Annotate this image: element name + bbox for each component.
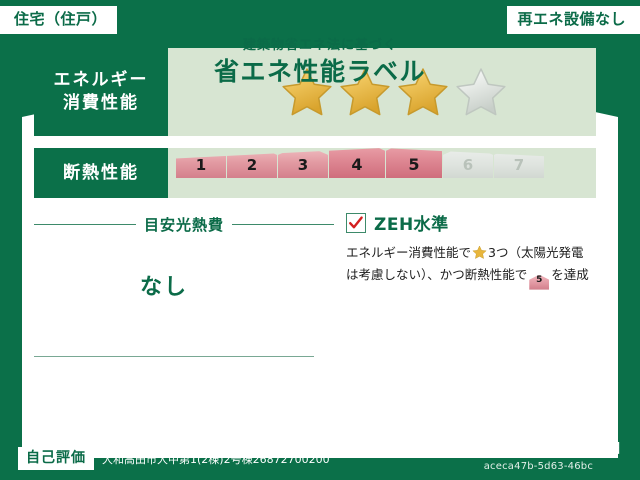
insulation-level-badge-inline: 5 <box>529 275 549 290</box>
zeh-desc-stars: 3つ（太陽光発電 <box>488 245 583 260</box>
zeh-desc-part1: エネルギー消費性能で <box>346 245 471 260</box>
insulation-level-4: 4 <box>329 138 385 178</box>
zeh-section: ZEH水準 エネルギー消費性能で3つ（太陽光発電は考慮しない）、かつ断熱性能で5… <box>334 208 596 438</box>
insulation-level-6: 6 <box>443 144 493 178</box>
utility-cost-heading-text: 目安光熱費 <box>144 214 224 235</box>
self-evaluation-badge: 自己評価 <box>18 447 94 470</box>
zeh-desc-part3: を達成 <box>551 267 589 282</box>
zeh-checkbox <box>346 213 366 233</box>
utility-cost-section: 目安光熱費 なし <box>34 208 334 438</box>
footer-right: 評価日 2025年10月15日 aceca47b-5d63-46bc <box>455 438 622 472</box>
evaluation-date: 評価日 2025年10月15日 <box>455 438 622 458</box>
zeh-desc-part2: は考慮しない）、かつ断熱性能で <box>346 267 527 282</box>
insulation-level-3: 3 <box>278 144 328 178</box>
zeh-description: エネルギー消費性能で3つ（太陽光発電は考慮しない）、かつ断熱性能で5を達成 <box>346 242 596 290</box>
footer-left: 自己評価 大和高田市大中第1(2棟)2号棟26872700200 <box>18 447 330 470</box>
check-icon <box>348 215 364 231</box>
zeh-title: ZEH水準 <box>374 210 449 235</box>
heading-rule-right <box>232 224 334 225</box>
insulation-label-text: 断熱性能 <box>63 162 139 185</box>
insulation-level-1: 1 <box>176 144 226 178</box>
page-title: 省エネ性能ラベル <box>0 56 640 87</box>
insulation-level-7: 7 <box>494 144 544 178</box>
label-title-block: 建築物省エネ法に基づく 省エネ性能ラベル <box>0 38 640 87</box>
insulation-performance-row: 断熱性能 1234567 <box>34 148 596 198</box>
utility-cost-heading: 目安光熱費 <box>34 214 334 235</box>
utility-cost-value: なし <box>34 269 334 301</box>
heading-rule-left <box>34 224 136 225</box>
renewable-energy-badge: 再エネ設備なし <box>507 6 640 34</box>
energy-label-line2: 消費性能 <box>63 92 139 115</box>
panel-content: エネルギー 消費性能 断熱性能 1234567 目安光熱費 なし <box>34 48 606 442</box>
star-icon <box>472 245 487 260</box>
building-type-badge: 住宅（住戸） <box>0 6 117 34</box>
label-subtitle: 建築物省エネ法に基づく <box>0 38 640 54</box>
evaluation-id: aceca47b-5d63-46bc <box>455 461 622 472</box>
insulation-level-5: 5 <box>386 138 442 178</box>
lower-content: 目安光熱費 なし ZEH水準 エネルギー消費性能で3つ（太陽光発電は考慮しな <box>34 208 596 438</box>
insulation-performance-label: 断熱性能 <box>34 148 168 198</box>
section-divider <box>34 356 314 357</box>
zeh-heading: ZEH水準 <box>346 210 596 235</box>
property-address: 大和高田市大中第1(2棟)2号棟26872700200 <box>102 451 330 467</box>
insulation-level-scale: 1234567 <box>168 148 596 182</box>
insulation-level-2: 2 <box>227 144 277 178</box>
energy-performance-label: 住宅（住戸） 再エネ設備なし 建築物省エネ法に基づく 省エネ性能ラベル エネルギ… <box>0 0 640 480</box>
